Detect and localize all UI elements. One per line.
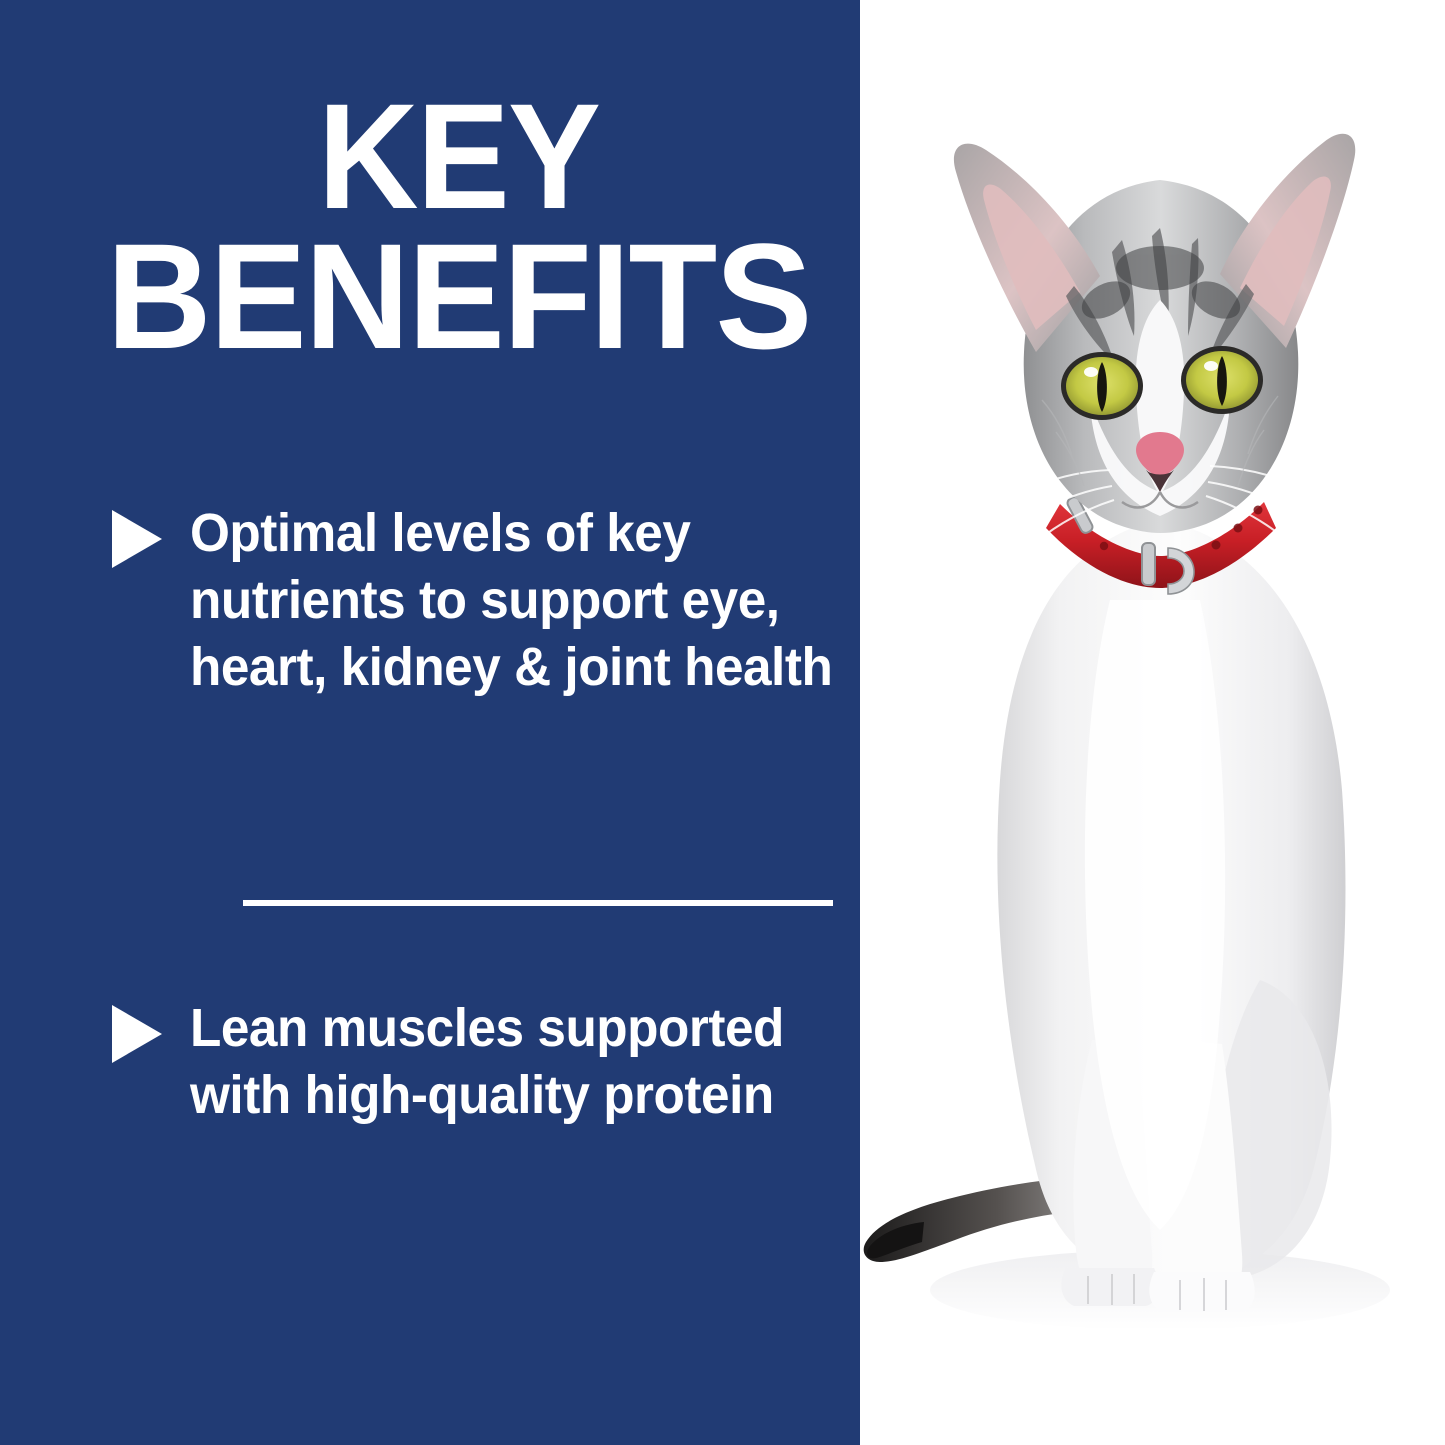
benefit-item: Lean muscles supported with high-quality… [110,995,880,1129]
benefit-item: Optimal levels of key nutrients to suppo… [110,500,880,701]
page-title-line-2: BENEFITS [14,226,903,366]
page-title-line-1: KEY [32,86,885,226]
page-title: KEY BENEFITS [0,86,917,366]
benefits-divider [243,900,833,906]
cat-photo [860,0,1445,1445]
benefit-text: Lean muscles supported with high-quality… [190,995,846,1129]
play-triangle-icon [110,508,164,570]
benefit-text: Optimal levels of key nutrients to suppo… [190,500,846,701]
product-benefits-banner: KEY BENEFITS Optimal levels of key nutri… [0,0,1445,1445]
play-triangle-icon [110,1003,164,1065]
